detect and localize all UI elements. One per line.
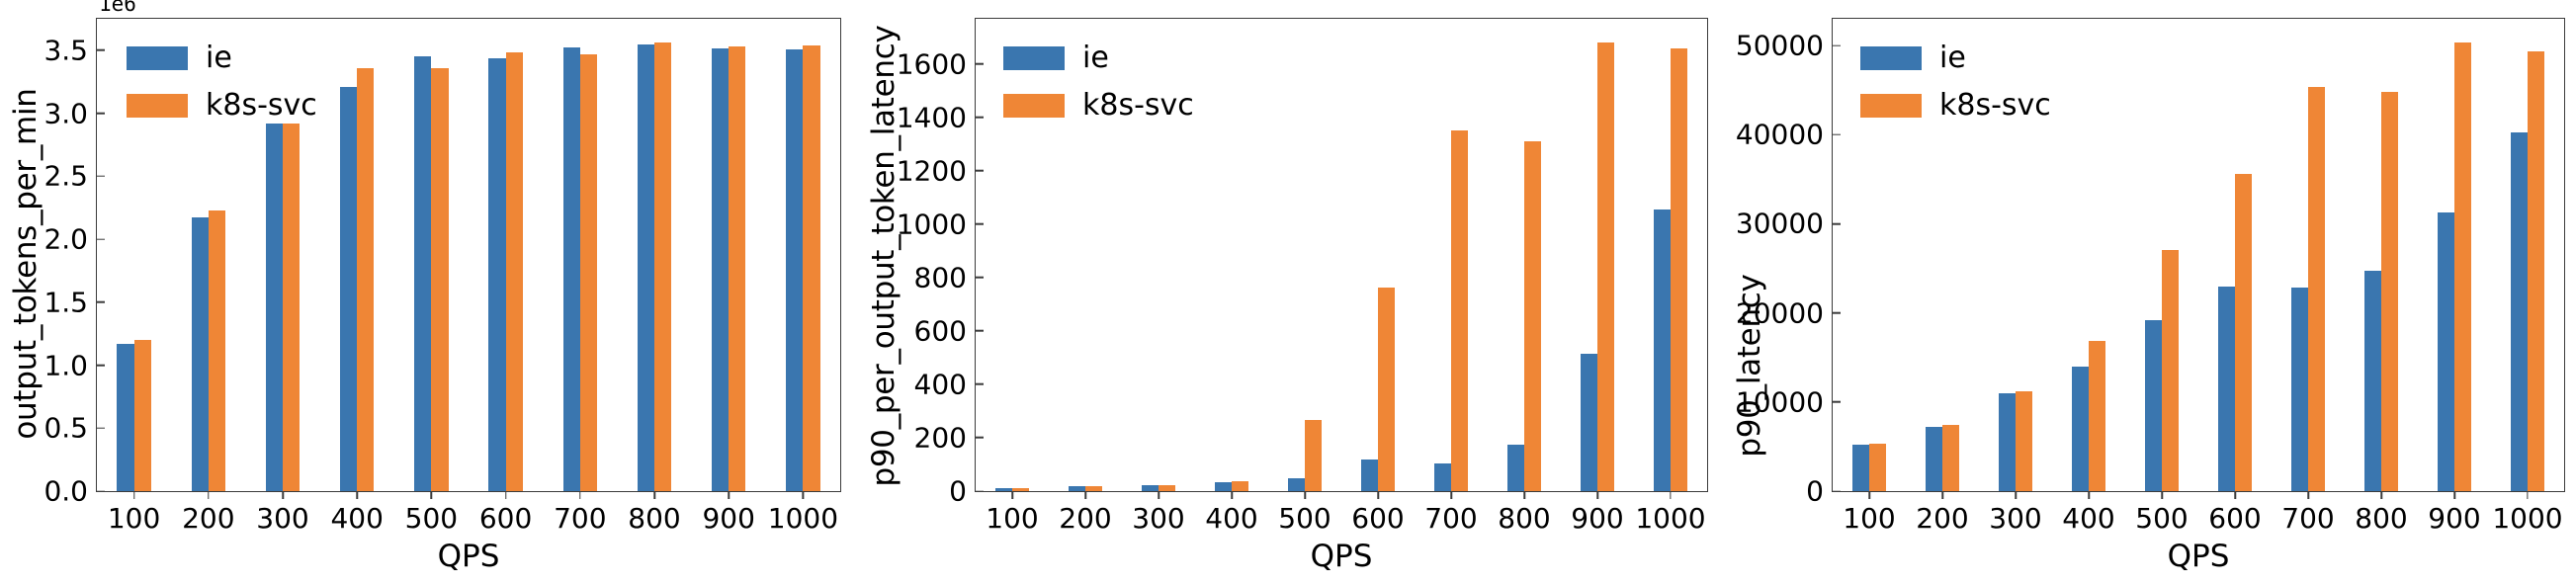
y-axis-tick-mark bbox=[1833, 401, 1841, 403]
x-axis-tick-label: 900 bbox=[702, 502, 754, 535]
y-axis-tick-mark bbox=[97, 113, 105, 115]
y-axis-tick: 200 bbox=[914, 421, 976, 454]
y-axis-tick-label: 400 bbox=[914, 368, 976, 400]
x-axis-tick-mark bbox=[1670, 491, 1672, 499]
y-axis-tick-mark bbox=[97, 238, 105, 240]
plot-area: ie k8s-svc QPS 0100002000030000400005000… bbox=[1832, 18, 2565, 492]
x-axis-tick-label: 100 bbox=[986, 502, 1038, 535]
legend-swatch-icon-ie bbox=[1860, 46, 1922, 70]
y-axis-tick: 1000 bbox=[897, 208, 976, 240]
x-axis-tick-mark bbox=[1084, 491, 1086, 499]
y-axis-tick: 1.5 bbox=[43, 286, 97, 318]
bar-ie-800 bbox=[638, 44, 654, 492]
x-axis-tick-mark bbox=[1304, 491, 1306, 499]
x-axis-tick: 1000 bbox=[1635, 491, 1705, 535]
y-axis-tick-label: 1400 bbox=[897, 101, 976, 133]
legend-swatch-icon-ie bbox=[127, 46, 188, 70]
y-axis-tick: 400 bbox=[914, 368, 976, 400]
y-axis-tick: 3.5 bbox=[43, 34, 97, 66]
bar-k8s-svc-1000 bbox=[803, 45, 819, 491]
bar-k8s-svc-800 bbox=[1524, 141, 1541, 491]
legend: ie k8s-svc bbox=[1860, 41, 2051, 123]
x-axis-tick: 100 bbox=[986, 491, 1038, 535]
x-axis-tick: 1000 bbox=[2492, 491, 2562, 535]
y-axis-tick-label: 200 bbox=[914, 421, 976, 454]
x-axis-tick: 900 bbox=[1571, 491, 1623, 535]
y-axis-tick: 3.0 bbox=[43, 97, 97, 129]
x-axis-tick-label: 100 bbox=[108, 502, 160, 535]
bar-ie-200 bbox=[1926, 427, 1942, 491]
y-axis-tick-label: 1000 bbox=[897, 208, 976, 240]
bar-ie-400 bbox=[340, 87, 357, 491]
y-axis-tick-label: 0.5 bbox=[43, 412, 97, 445]
y-axis-tick: 1400 bbox=[897, 101, 976, 133]
x-axis-tick-label: 1000 bbox=[768, 502, 838, 535]
y-axis-tick-label: 20000 bbox=[1736, 296, 1833, 329]
y-axis-tick: 1.0 bbox=[43, 349, 97, 381]
x-axis-tick-label: 600 bbox=[1351, 502, 1404, 535]
bar-k8s-svc-200 bbox=[1942, 425, 1959, 491]
x-axis-tick-mark bbox=[2453, 491, 2455, 499]
bar-ie-800 bbox=[1507, 445, 1524, 491]
x-axis-tick-label: 200 bbox=[1916, 502, 1968, 535]
x-axis-tick-label: 800 bbox=[628, 502, 680, 535]
bar-k8s-svc-900 bbox=[1597, 42, 1614, 491]
bar-k8s-svc-600 bbox=[2235, 174, 2252, 491]
y-axis-tick-mark bbox=[976, 63, 984, 65]
x-axis-tick-mark bbox=[2015, 491, 2017, 499]
x-axis-tick-mark bbox=[2380, 491, 2382, 499]
bar-ie-400 bbox=[1215, 482, 1232, 491]
legend: ie k8s-svc bbox=[1003, 41, 1194, 123]
x-axis-tick-mark bbox=[1450, 491, 1452, 499]
x-axis-tick-mark bbox=[2307, 491, 2309, 499]
x-axis-tick-label: 300 bbox=[256, 502, 308, 535]
legend-entry-k8s-svc: k8s-svc bbox=[127, 88, 317, 123]
bar-k8s-svc-900 bbox=[729, 46, 745, 491]
y-axis-tick-mark bbox=[976, 490, 984, 492]
bar-ie-600 bbox=[1361, 460, 1378, 491]
y-axis-tick-mark bbox=[97, 427, 105, 429]
legend: ie k8s-svc bbox=[127, 41, 317, 123]
y-axis-tick-mark bbox=[976, 437, 984, 439]
bar-k8s-svc-100 bbox=[134, 340, 151, 491]
x-axis-tick-mark bbox=[2161, 491, 2163, 499]
bar-k8s-svc-600 bbox=[1378, 288, 1395, 491]
bar-k8s-svc-1000 bbox=[1671, 48, 1687, 491]
x-axis-tick: 800 bbox=[2355, 491, 2407, 535]
y-axis-tick-mark bbox=[976, 383, 984, 385]
x-axis-tick-mark bbox=[2527, 491, 2529, 499]
x-axis-tick: 200 bbox=[1916, 491, 1968, 535]
bar-ie-200 bbox=[192, 217, 209, 491]
bar-ie-900 bbox=[2438, 212, 2454, 491]
y-axis-tick: 600 bbox=[914, 314, 976, 347]
y-axis-tick-label: 1200 bbox=[897, 154, 976, 187]
bar-ie-1000 bbox=[2511, 132, 2528, 491]
x-axis-tick-mark bbox=[728, 491, 730, 499]
chart-panel-p90-per-output-token-latency: p90_per_output_token_latency ie k8s-svc … bbox=[858, 0, 1716, 585]
y-axis-tick: 1600 bbox=[897, 47, 976, 80]
bar-k8s-svc-500 bbox=[2162, 250, 2179, 491]
y-axis-tick-mark bbox=[97, 490, 105, 492]
plot-area: ie k8s-svc QPS 0200400600800100012001400… bbox=[975, 18, 1708, 492]
bar-ie-1000 bbox=[1654, 209, 1671, 491]
legend-label-k8s-svc: k8s-svc bbox=[206, 88, 317, 123]
y-axis-tick-mark bbox=[1833, 133, 1841, 135]
bar-ie-500 bbox=[2145, 320, 2162, 491]
x-axis-tick: 600 bbox=[479, 491, 532, 535]
bar-ie-700 bbox=[563, 47, 580, 491]
x-axis-tick-label: 700 bbox=[554, 502, 606, 535]
y-axis-tick: 2.5 bbox=[43, 160, 97, 193]
x-axis-tick: 700 bbox=[2281, 491, 2334, 535]
x-axis-tick: 600 bbox=[2208, 491, 2261, 535]
x-axis-tick-mark bbox=[1158, 491, 1159, 499]
legend-label-ie: ie bbox=[1939, 41, 1966, 75]
bar-ie-900 bbox=[1581, 354, 1597, 491]
x-axis-tick: 500 bbox=[405, 491, 458, 535]
x-axis-tick: 900 bbox=[702, 491, 754, 535]
y-axis-tick-label: 1600 bbox=[897, 47, 976, 80]
y-axis-tick-mark bbox=[97, 365, 105, 367]
x-axis-tick: 600 bbox=[1351, 491, 1404, 535]
bar-ie-500 bbox=[1288, 478, 1305, 491]
bar-ie-1000 bbox=[786, 49, 803, 491]
y-axis-tick-mark bbox=[976, 330, 984, 332]
bar-ie-800 bbox=[2364, 271, 2381, 491]
legend-label-ie: ie bbox=[1082, 41, 1109, 75]
x-axis-tick: 400 bbox=[1205, 491, 1257, 535]
legend-swatch-icon-ie bbox=[1003, 46, 1065, 70]
y-axis-tick: 40000 bbox=[1736, 119, 1833, 151]
x-axis-tick-mark bbox=[1596, 491, 1598, 499]
y-axis-tick-label: 3.5 bbox=[43, 34, 97, 66]
bar-k8s-svc-100 bbox=[1869, 444, 1886, 491]
legend-entry-ie: ie bbox=[127, 41, 317, 75]
y-axis-tick-mark bbox=[976, 277, 984, 279]
bar-k8s-svc-700 bbox=[1451, 130, 1468, 491]
bar-ie-700 bbox=[1434, 463, 1451, 491]
x-axis-tick-mark bbox=[1231, 491, 1233, 499]
y-axis-tick: 20000 bbox=[1736, 296, 1833, 329]
bar-ie-700 bbox=[2291, 288, 2308, 491]
x-axis-tick-mark bbox=[282, 491, 284, 499]
bar-k8s-svc-600 bbox=[506, 52, 523, 491]
bar-ie-500 bbox=[414, 56, 431, 491]
bar-k8s-svc-400 bbox=[357, 68, 374, 491]
legend-swatch-icon-k8s-svc bbox=[127, 94, 188, 118]
legend-entry-k8s-svc: k8s-svc bbox=[1003, 88, 1194, 123]
y-axis-tick: 1200 bbox=[897, 154, 976, 187]
plot-area: ie k8s-svc QPS 0.00.51.01.52.02.53.03.51… bbox=[96, 18, 841, 492]
x-axis-tick-mark bbox=[1011, 491, 1013, 499]
y-axis-tick: 0.5 bbox=[43, 412, 97, 445]
x-axis-label: QPS bbox=[1311, 539, 1373, 574]
x-axis-tick-mark bbox=[803, 491, 805, 499]
y-axis-tick-label: 2.0 bbox=[43, 223, 97, 256]
x-axis-tick: 900 bbox=[2428, 491, 2480, 535]
x-axis-tick-mark bbox=[1868, 491, 1870, 499]
x-axis-label: QPS bbox=[2168, 539, 2230, 574]
x-axis-tick-label: 500 bbox=[1278, 502, 1331, 535]
x-axis-tick-mark bbox=[431, 491, 433, 499]
legend-entry-ie: ie bbox=[1860, 41, 2051, 75]
x-axis-tick-label: 300 bbox=[1132, 502, 1184, 535]
bar-ie-100 bbox=[117, 344, 133, 491]
bar-ie-400 bbox=[2072, 367, 2089, 491]
x-axis-tick-mark bbox=[2234, 491, 2236, 499]
y-axis-tick: 800 bbox=[914, 261, 976, 293]
y-axis-tick-label: 1.5 bbox=[43, 286, 97, 318]
x-axis-tick: 100 bbox=[1843, 491, 1895, 535]
x-axis-tick: 300 bbox=[1989, 491, 2041, 535]
x-axis-tick: 200 bbox=[182, 491, 234, 535]
y-axis-label: p90_per_output_token_latency bbox=[864, 10, 903, 502]
x-axis-tick-label: 1000 bbox=[2492, 502, 2562, 535]
y-axis-tick: 10000 bbox=[1736, 385, 1833, 418]
x-axis-tick-label: 800 bbox=[1498, 502, 1550, 535]
bar-ie-600 bbox=[2218, 287, 2235, 491]
y-axis-tick-label: 30000 bbox=[1736, 208, 1833, 240]
x-axis-tick-label: 600 bbox=[2208, 502, 2261, 535]
y-axis-label: output_tokens_per_min bbox=[6, 22, 45, 506]
y-axis-tick-label: 50000 bbox=[1736, 30, 1833, 62]
x-axis-tick: 100 bbox=[108, 491, 160, 535]
x-axis-tick-mark bbox=[1377, 491, 1379, 499]
bar-k8s-svc-500 bbox=[1305, 420, 1322, 491]
x-axis-tick-mark bbox=[505, 491, 507, 499]
bar-k8s-svc-400 bbox=[1232, 481, 1248, 491]
legend-label-k8s-svc: k8s-svc bbox=[1939, 88, 2051, 123]
y-axis-tick: 0 bbox=[1806, 475, 1833, 508]
x-axis-tick-label: 700 bbox=[1424, 502, 1477, 535]
bar-k8s-svc-400 bbox=[2089, 341, 2105, 491]
x-axis-tick-label: 1000 bbox=[1635, 502, 1705, 535]
legend-label-k8s-svc: k8s-svc bbox=[1082, 88, 1194, 123]
y-axis-tick-label: 800 bbox=[914, 261, 976, 293]
x-axis-tick-mark bbox=[1523, 491, 1525, 499]
bar-ie-600 bbox=[488, 58, 505, 491]
y-axis-tick-mark bbox=[1833, 223, 1841, 225]
chart-panel-output-tokens-per-min: output_tokens_per_min 1e6 ie k8s-svc QPS… bbox=[0, 0, 858, 585]
y-axis-tick: 0.0 bbox=[43, 475, 97, 508]
x-axis-tick: 1000 bbox=[768, 491, 838, 535]
x-axis-tick-label: 200 bbox=[182, 502, 234, 535]
y-axis-tick-label: 0 bbox=[1806, 475, 1833, 508]
x-axis-tick-mark bbox=[653, 491, 655, 499]
x-axis-tick: 300 bbox=[256, 491, 308, 535]
y-axis-tick: 50000 bbox=[1736, 30, 1833, 62]
y-axis-tick-mark bbox=[976, 117, 984, 119]
bar-k8s-svc-300 bbox=[2016, 391, 2032, 491]
bar-k8s-svc-700 bbox=[2308, 87, 2325, 491]
y-axis-tick-label: 600 bbox=[914, 314, 976, 347]
x-axis-tick: 500 bbox=[2135, 491, 2188, 535]
y-axis-tick-label: 0 bbox=[949, 475, 976, 508]
y-axis-tick-label: 0.0 bbox=[43, 475, 97, 508]
x-axis-tick-label: 700 bbox=[2281, 502, 2334, 535]
y-axis-tick: 2.0 bbox=[43, 223, 97, 256]
y-axis-tick: 0 bbox=[949, 475, 976, 508]
x-axis-tick-mark bbox=[208, 491, 210, 499]
y-axis-tick-mark bbox=[1833, 490, 1841, 492]
bar-k8s-svc-200 bbox=[209, 210, 225, 491]
x-axis-tick-label: 500 bbox=[2135, 502, 2188, 535]
x-axis-tick-label: 900 bbox=[1571, 502, 1623, 535]
bar-ie-300 bbox=[1999, 393, 2016, 491]
x-axis-tick: 700 bbox=[1424, 491, 1477, 535]
y-axis-tick-label: 3.0 bbox=[43, 97, 97, 129]
y-axis-tick-mark bbox=[97, 301, 105, 303]
bar-ie-900 bbox=[712, 48, 729, 491]
y-axis-tick: 30000 bbox=[1736, 208, 1833, 240]
x-axis-tick-label: 300 bbox=[1989, 502, 2041, 535]
bar-ie-100 bbox=[1852, 445, 1869, 491]
bar-k8s-svc-500 bbox=[431, 68, 448, 491]
bar-k8s-svc-800 bbox=[654, 42, 671, 491]
legend-swatch-icon-k8s-svc bbox=[1860, 94, 1922, 118]
figure-three-panel-bar-charts: output_tokens_per_min 1e6 ie k8s-svc QPS… bbox=[0, 0, 2576, 585]
x-axis-tick-mark bbox=[579, 491, 581, 499]
y-axis-tick-mark bbox=[976, 170, 984, 172]
x-axis-tick: 500 bbox=[1278, 491, 1331, 535]
x-axis-tick-mark bbox=[2088, 491, 2090, 499]
x-axis-tick-label: 400 bbox=[2062, 502, 2114, 535]
y-axis-tick-mark bbox=[97, 176, 105, 178]
y-axis-tick-label: 40000 bbox=[1736, 119, 1833, 151]
x-axis-tick-label: 500 bbox=[405, 502, 458, 535]
bar-k8s-svc-700 bbox=[580, 54, 597, 491]
x-axis-tick: 300 bbox=[1132, 491, 1184, 535]
x-axis-tick-label: 600 bbox=[479, 502, 532, 535]
legend-entry-ie: ie bbox=[1003, 41, 1194, 75]
x-axis-tick: 200 bbox=[1059, 491, 1111, 535]
x-axis-tick-label: 900 bbox=[2428, 502, 2480, 535]
x-axis-tick: 700 bbox=[554, 491, 606, 535]
legend-entry-k8s-svc: k8s-svc bbox=[1860, 88, 2051, 123]
bar-k8s-svc-300 bbox=[283, 124, 300, 491]
chart-panel-p90-latency: p90_latency ie k8s-svc QPS 0100002000030… bbox=[1716, 0, 2574, 585]
x-axis-tick-mark bbox=[1941, 491, 1943, 499]
x-axis-tick-label: 200 bbox=[1059, 502, 1111, 535]
y-axis-tick-label: 1.0 bbox=[43, 349, 97, 381]
x-axis-tick-label: 400 bbox=[1205, 502, 1257, 535]
y-axis-tick-mark bbox=[97, 49, 105, 51]
x-axis-tick-label: 400 bbox=[330, 502, 383, 535]
x-axis-tick: 400 bbox=[2062, 491, 2114, 535]
bar-ie-300 bbox=[266, 124, 283, 491]
x-axis-label: QPS bbox=[438, 539, 500, 574]
x-axis-tick-label: 100 bbox=[1843, 502, 1895, 535]
y-axis-offset-text: 1e6 bbox=[99, 0, 136, 16]
x-axis-tick: 400 bbox=[330, 491, 383, 535]
legend-swatch-icon-k8s-svc bbox=[1003, 94, 1065, 118]
x-axis-tick: 800 bbox=[628, 491, 680, 535]
y-axis-tick-mark bbox=[1833, 44, 1841, 46]
y-axis-tick-mark bbox=[1833, 312, 1841, 314]
legend-label-ie: ie bbox=[206, 41, 232, 75]
bar-k8s-svc-900 bbox=[2454, 42, 2471, 491]
y-axis-tick-label: 2.5 bbox=[43, 160, 97, 193]
x-axis-tick-mark bbox=[133, 491, 135, 499]
bar-k8s-svc-1000 bbox=[2528, 51, 2544, 491]
x-axis-tick-mark bbox=[356, 491, 358, 499]
x-axis-tick: 800 bbox=[1498, 491, 1550, 535]
x-axis-tick-label: 800 bbox=[2355, 502, 2407, 535]
y-axis-tick-label: 10000 bbox=[1736, 385, 1833, 418]
bar-k8s-svc-800 bbox=[2381, 92, 2398, 491]
y-axis-tick-mark bbox=[976, 223, 984, 225]
